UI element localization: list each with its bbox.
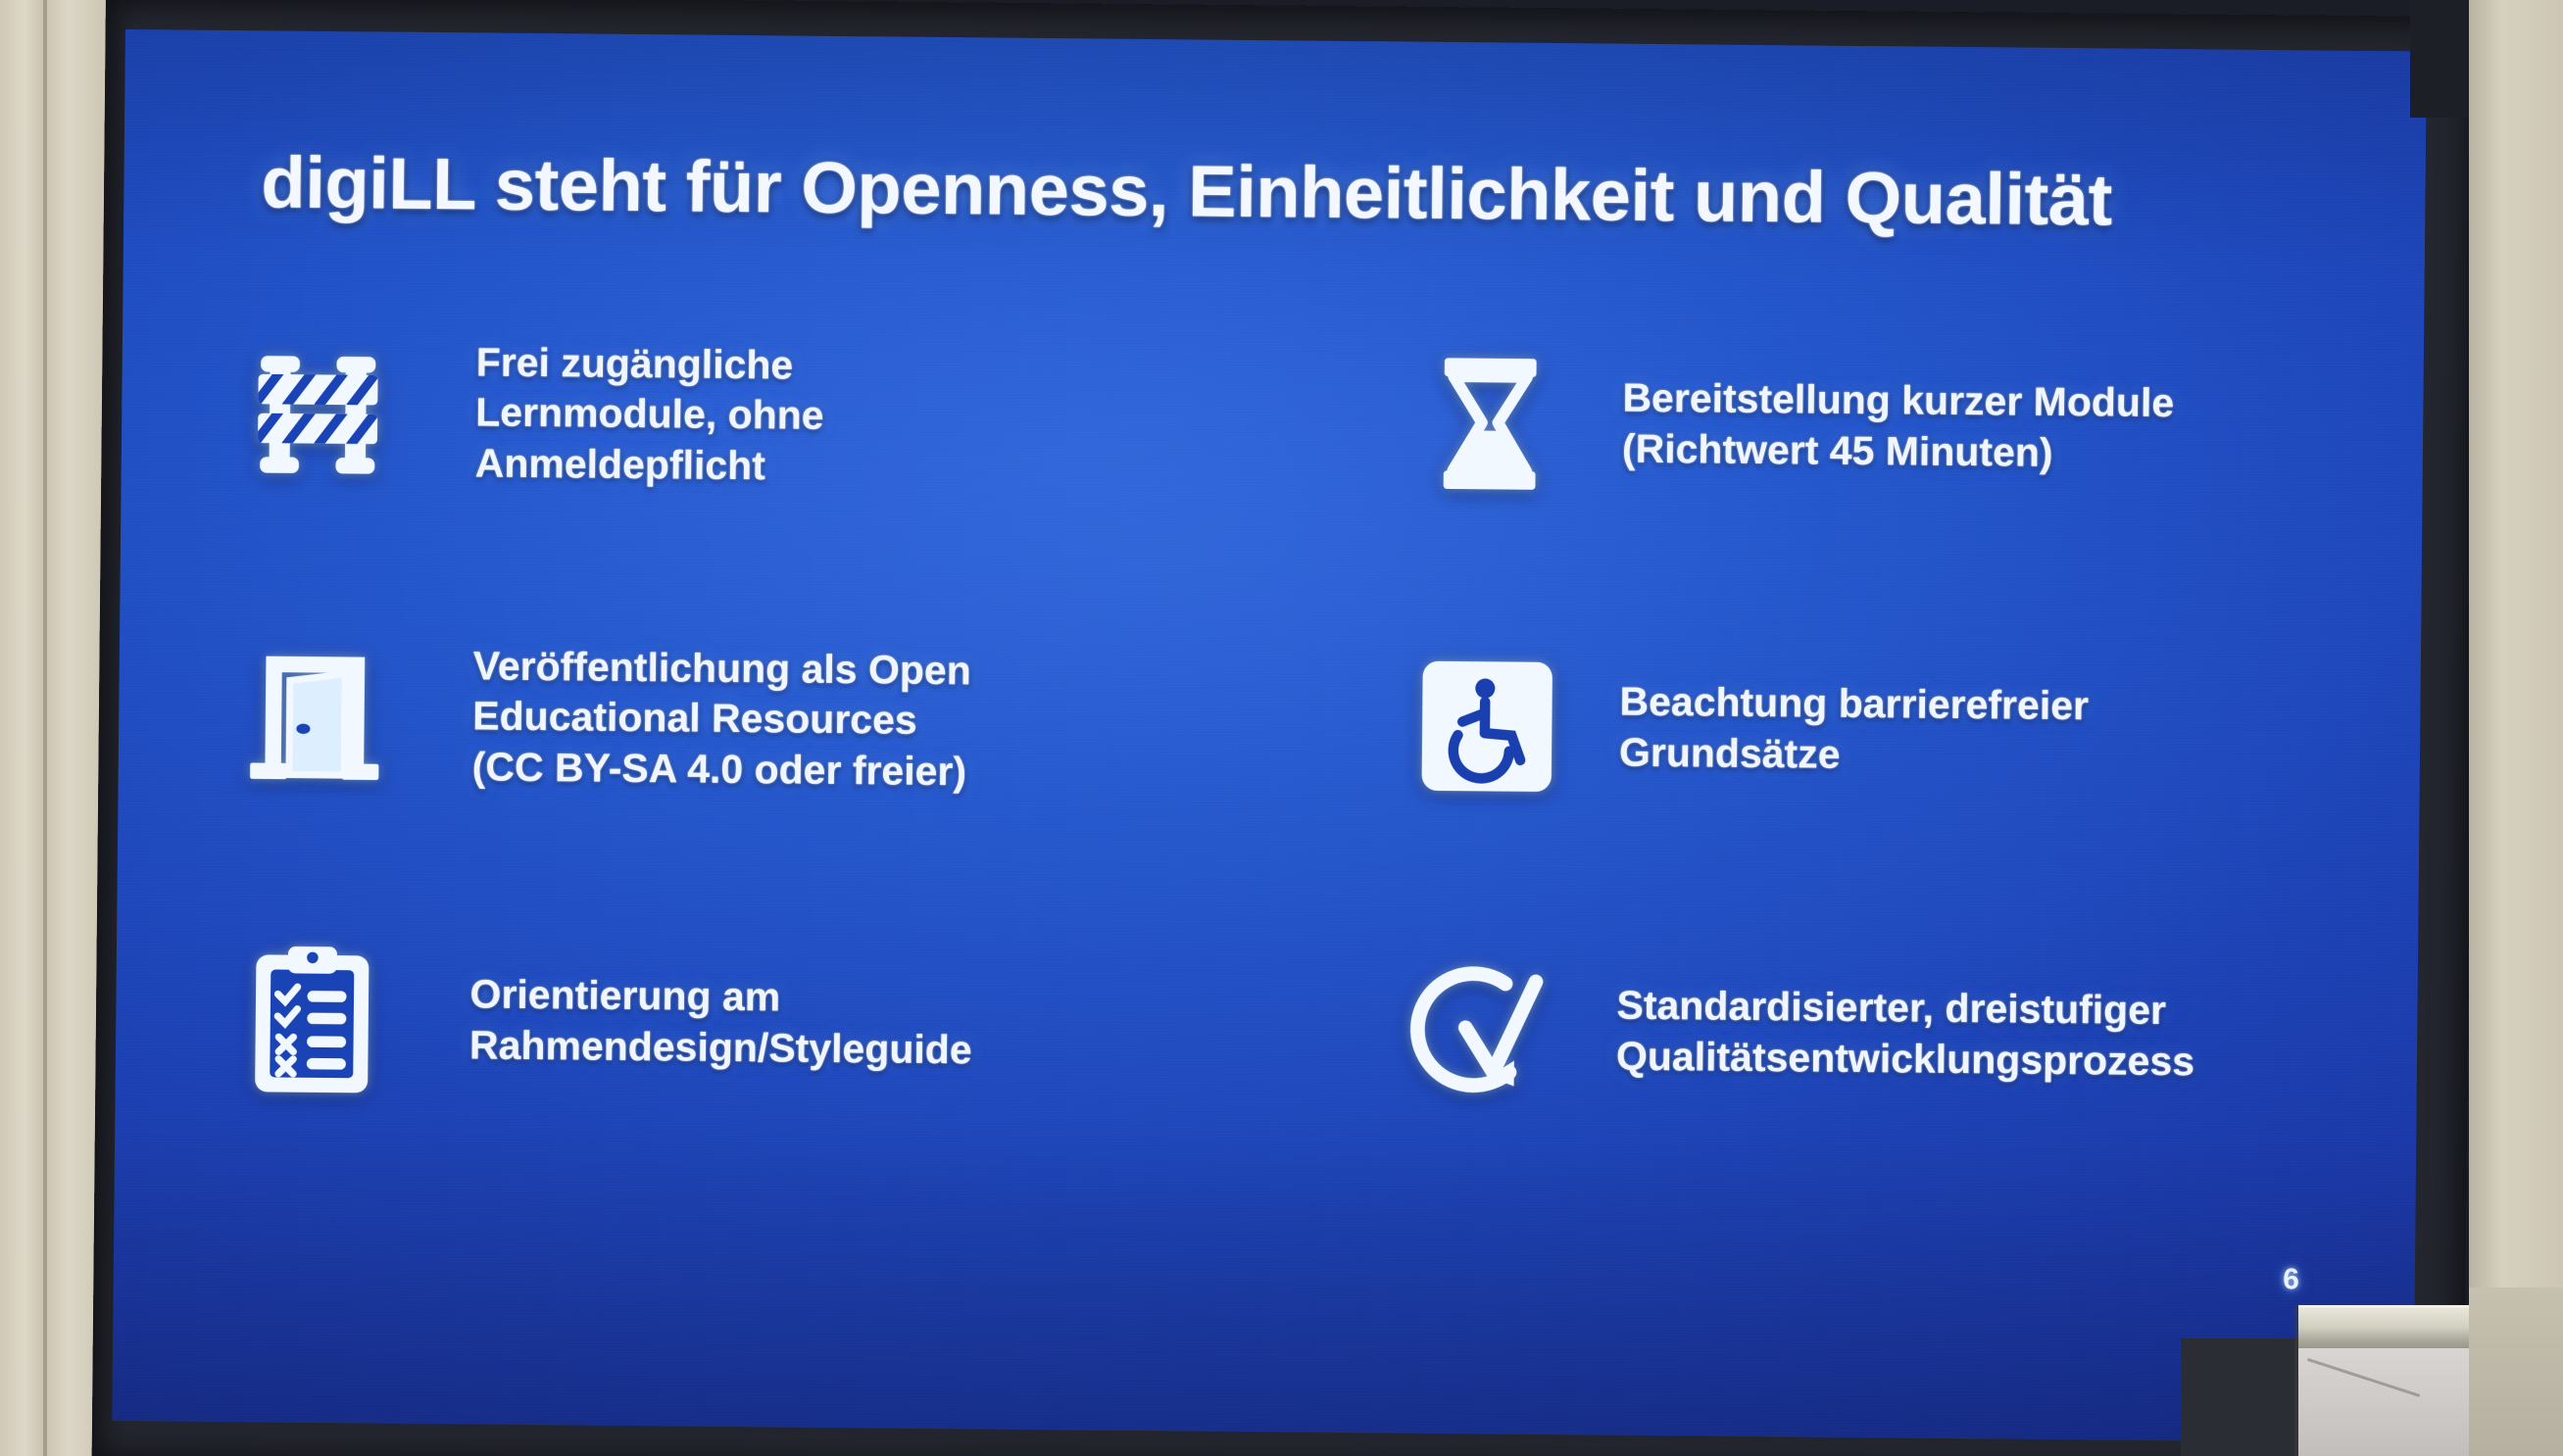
feature-text: Bereitstellung kurzer Module (Richtwert … <box>1622 373 2175 480</box>
presentation-slide: digiLL steht für Openness, Einheitlichke… <box>112 29 2427 1442</box>
feature-item-short-modules: Bereitstellung kurzer Module (Richtwert … <box>1311 274 2363 578</box>
photographed-presentation-scene: digiLL steht für Openness, Einheitlichke… <box>0 0 2563 1456</box>
slide-page-number: 6 <box>2283 1263 2299 1296</box>
feature-text: Frei zugängliche Lernmodule, ohne Anmeld… <box>475 337 825 492</box>
open-door-icon <box>221 621 409 809</box>
feature-text: Standardisierter, dreistufiger Qualitäts… <box>1616 981 2195 1088</box>
feature-item-accessibility: Beachtung barrierefreier Grundsätze <box>1308 578 2360 882</box>
feature-line: Grundsätze <box>1619 728 2089 783</box>
feature-item-oer-license: Veröffentlichung als Open Educational Re… <box>221 567 1272 871</box>
slide-title: digiLL steht für Openness, Einheitlichke… <box>261 140 2320 243</box>
feature-line: (Richtwert 45 Minuten) <box>1622 424 2174 480</box>
feature-line: Standardisierter, dreistufiger <box>1616 981 2195 1037</box>
feature-text: Veröffentlichung als Open Educational Re… <box>472 641 971 798</box>
feature-line: Beachtung barrierefreier <box>1619 677 2089 732</box>
feature-line: Educational Resources <box>472 692 970 748</box>
feature-line: Bereitstellung kurzer Module <box>1622 373 2174 429</box>
feature-line: (CC BY-SA 4.0 oder freier) <box>472 742 970 798</box>
wall-seam <box>43 0 47 1456</box>
feature-line: Lernmodule, ohne <box>475 388 824 442</box>
feature-line: Orientierung am <box>469 970 972 1026</box>
wheelchair-accessibility-icon <box>1393 632 1581 820</box>
room-wall-right-lower <box>2469 1287 2563 1456</box>
feature-item-quality-process: Standardisierter, dreistufiger Qualitäts… <box>1306 882 2357 1186</box>
feature-line: Veröffentlichung als Open <box>473 641 971 697</box>
feature-line: Qualitätsentwicklungsprozess <box>1616 1032 2195 1088</box>
feature-line: Anmeldepflicht <box>475 438 824 492</box>
room-corner-shadow <box>2410 0 2469 118</box>
feature-item-styleguide: Orientierung am Rahmendesign/Styleguide <box>218 871 1269 1175</box>
room-wall-right <box>2469 0 2563 1456</box>
circular-arrow-check-icon <box>1390 936 1578 1124</box>
room-floor-shadow <box>2181 1338 2298 1456</box>
hourglass-icon <box>1396 328 1584 516</box>
feature-grid: Frei zugängliche Lernmodule, ohne Anmeld… <box>218 264 2363 1186</box>
feature-item-open-access: Frei zugängliche Lernmodule, ohne Anmeld… <box>223 264 1275 567</box>
feature-text: Beachtung barrierefreier Grundsätze <box>1619 677 2089 783</box>
feature-line: Frei zugängliche <box>476 337 825 391</box>
feature-text: Orientierung am Rahmendesign/Styleguide <box>469 970 973 1076</box>
barrier-icon <box>223 317 412 506</box>
feature-line: Rahmendesign/Styleguide <box>469 1020 972 1076</box>
clipboard-checklist-icon <box>218 925 406 1113</box>
